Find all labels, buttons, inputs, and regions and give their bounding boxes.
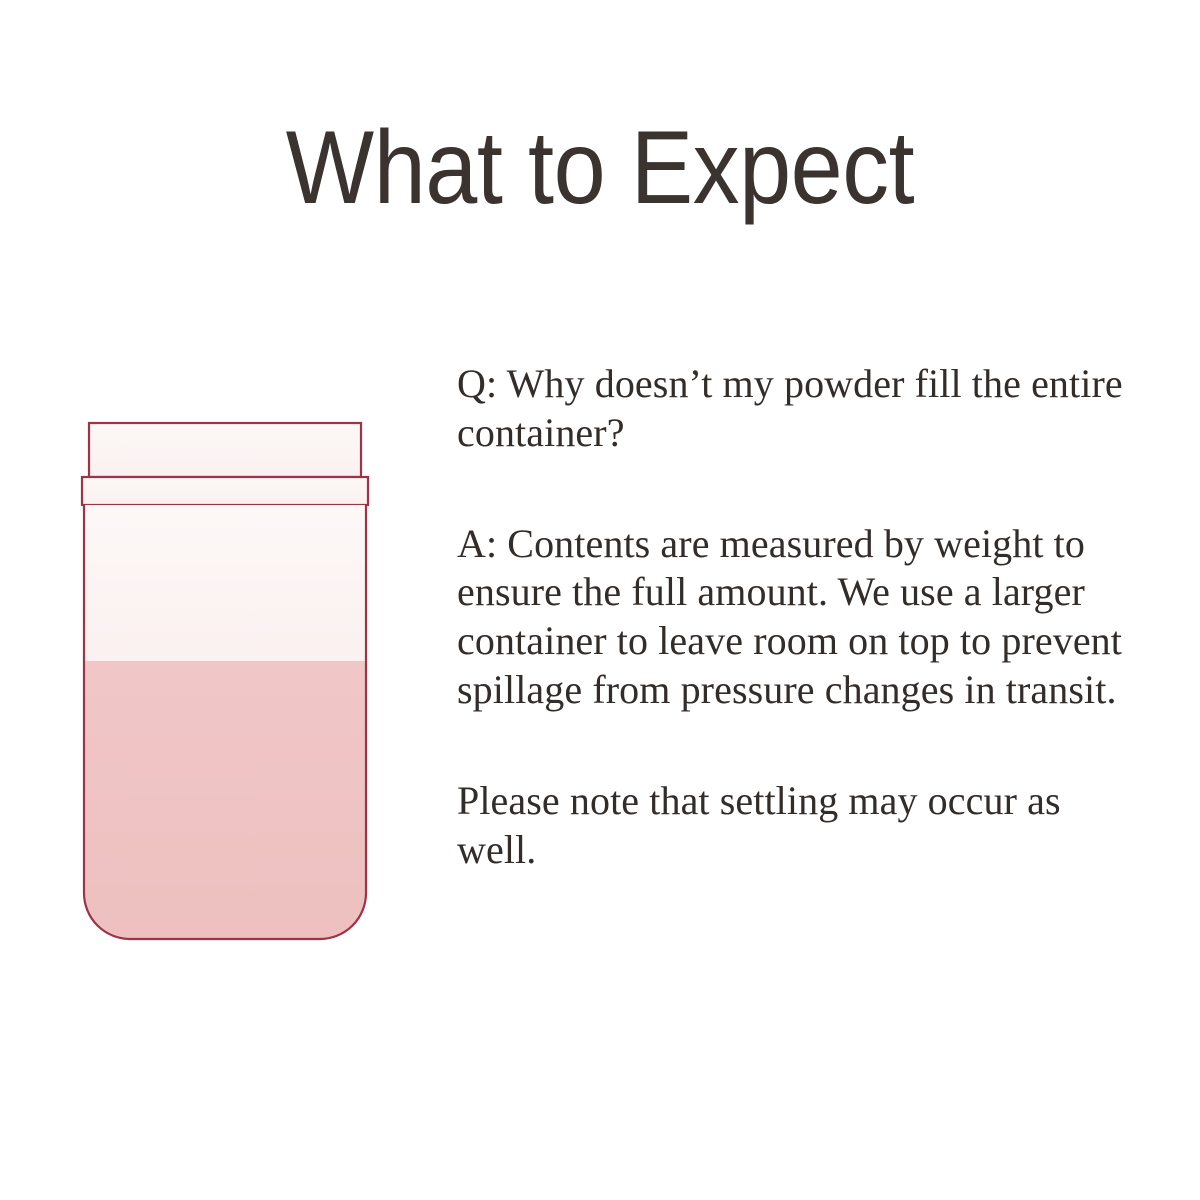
faq-answer: A: Contents are measured by weight to en… bbox=[457, 520, 1129, 715]
jar-headspace bbox=[82, 503, 368, 663]
powder-container-illustration bbox=[72, 408, 392, 958]
jar-lid-collar bbox=[82, 477, 368, 505]
jar-lid-cap bbox=[89, 423, 361, 477]
page-title: What to Expect bbox=[60, 112, 1140, 224]
jar-body-contents bbox=[82, 503, 368, 946]
jar-powder-fill bbox=[82, 661, 368, 946]
faq-question: Q: Why doesn’t my powder fill the entire… bbox=[457, 360, 1129, 458]
page-root: What to Expect bbox=[0, 0, 1200, 1200]
faq-text-column: Q: Why doesn’t my powder fill the entire… bbox=[457, 360, 1129, 874]
jar-diagram bbox=[72, 408, 392, 958]
faq-note: Please note that settling may occur as w… bbox=[457, 777, 1129, 875]
